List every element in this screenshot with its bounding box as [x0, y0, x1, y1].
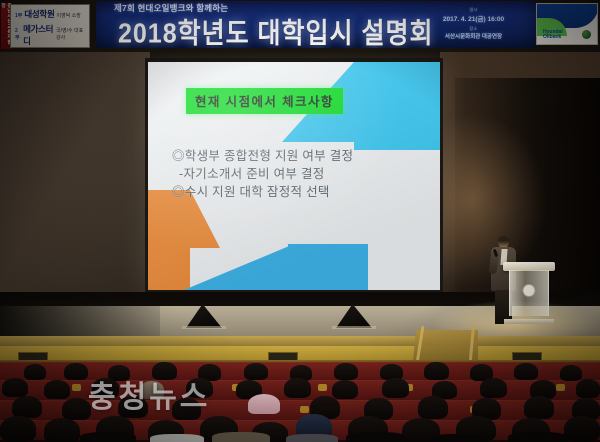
- lectern-base: [504, 319, 554, 324]
- attendee-head: [44, 380, 70, 399]
- event-banner-area: 충남서산교육지원청 1부 대성학원 이영덕 소장 2부 메가스터디 국/영/수 …: [0, 0, 600, 52]
- attendee-head: [64, 363, 88, 380]
- date-value: 2017. 4. 21(금) 16:00: [421, 13, 526, 23]
- seat-number-plate: [300, 406, 309, 413]
- seat-number-plate: [318, 384, 327, 391]
- hall-wall-left: [0, 52, 150, 308]
- attendee-head: [24, 364, 46, 380]
- attendee-shoulders: [430, 434, 488, 442]
- logo-mark-icon: [582, 30, 591, 39]
- part2-role: 국/영/수 대표강사: [56, 27, 86, 41]
- attendee-shoulders: [212, 432, 270, 442]
- seat-number-plate: [72, 384, 81, 391]
- attendee-head: [334, 363, 358, 380]
- attendee-shoulders: [286, 434, 338, 442]
- attendee-head: [382, 378, 409, 398]
- stage-monitor-left-base: [182, 326, 226, 329]
- attendee-head: [140, 381, 164, 399]
- slide-title: 현재 시점에서 체크사항: [186, 88, 343, 114]
- lectern: [506, 262, 552, 324]
- audience: [0, 362, 600, 442]
- slide-bullet-3: ◎수시 지원 대학 잠정적 선택: [172, 184, 404, 202]
- stage-monitor-right-base: [332, 326, 376, 329]
- speaker-info-part2: 2부 메가스터디 국/영/수 대표강사: [15, 23, 86, 47]
- part2-label: 2부: [15, 28, 21, 41]
- attendee-head: [44, 418, 80, 442]
- attendee-head: [418, 396, 448, 419]
- slide-body: ◎학생부 종합전형 지원 여부 결정 -자기소개서 준비 여부 결정 ◎수시 지…: [172, 148, 404, 201]
- part2-academy: 메가스터디: [23, 23, 54, 47]
- slide-shape-blue-triangle: [184, 244, 294, 290]
- part1-label: 1부: [15, 12, 22, 19]
- attendee-head-pink-cap: [248, 394, 280, 414]
- seat-number-plate: [556, 384, 565, 391]
- attendee-head: [576, 379, 600, 398]
- place-label: 장소: [421, 26, 526, 32]
- attendee-head: [284, 378, 311, 398]
- attendee-head: [0, 416, 36, 442]
- attendee-head: [2, 378, 28, 397]
- sponsor-logo: Hyundai Oilbank: [536, 3, 598, 45]
- attendee-head: [332, 380, 358, 399]
- slide-shape-orange: [148, 190, 190, 290]
- attendee-head: [560, 365, 582, 381]
- attendee-head: [152, 362, 177, 380]
- lectern-emblem: [523, 284, 536, 297]
- attendee-head: [514, 363, 538, 380]
- projection-screen-frame: 현재 시점에서 체크사항 ◎학생부 종합전형 지원 여부 결정 -자기소개서 준…: [145, 58, 443, 294]
- date-label: 일시: [421, 7, 526, 13]
- attendee-shoulders: [150, 434, 204, 442]
- attendee-head: [186, 378, 213, 398]
- main-event-banner: 제7회 현대오일뱅크와 함께하는 2018학년도 대학입시 설명회 일시 201…: [96, 1, 536, 48]
- banner-title: 2018학년도 대학입시 설명회: [118, 11, 434, 48]
- part1-role: 이영덕 소장: [56, 12, 80, 19]
- attendee-head: [480, 378, 507, 398]
- attendee-head: [424, 362, 449, 380]
- stage-floor-shadow: [0, 306, 160, 338]
- banner-details: 일시 2017. 4. 21(금) 16:00 장소 서산시문화회관 대공연장: [421, 7, 526, 40]
- place-value: 서산시문화회관 대공연장: [421, 32, 526, 40]
- projection-screen: 현재 시점에서 체크사항 ◎학생부 종합전형 지원 여부 결정 -자기소개서 준…: [148, 62, 440, 290]
- attendee-head: [12, 396, 42, 418]
- attendee-head: [62, 398, 91, 420]
- attendee-shoulders: [80, 432, 136, 442]
- photo-canvas: 현재 시점에서 체크사항 ◎학생부 종합전형 지원 여부 결정 -자기소개서 준…: [0, 0, 600, 442]
- speaker-info-part1: 1부 대성학원 이영덕 소장: [15, 8, 86, 20]
- slide-bullet-2: -자기소개서 준비 여부 결정: [172, 166, 404, 184]
- logo-text: Hyundai Oilbank: [543, 30, 563, 42]
- slide-shape-blue-band: [288, 244, 368, 290]
- attendee-head: [244, 363, 268, 380]
- speaker-info-sign: 1부 대성학원 이영덕 소장 2부 메가스터디 국/영/수 대표강사: [10, 4, 90, 48]
- logo-text-line2: Oilbank: [543, 34, 561, 40]
- attendee-head: [92, 378, 119, 398]
- part1-academy: 대성학원: [24, 8, 54, 20]
- attendee-head: [524, 396, 554, 419]
- slide-bullet-1: ◎학생부 종합전형 지원 여부 결정: [172, 148, 404, 166]
- attendee-shoulders: [508, 432, 568, 442]
- attendee-head: [564, 416, 600, 442]
- attendee-head: [172, 398, 201, 420]
- attendee-head: [118, 396, 148, 418]
- attendee-shoulders: [346, 432, 406, 442]
